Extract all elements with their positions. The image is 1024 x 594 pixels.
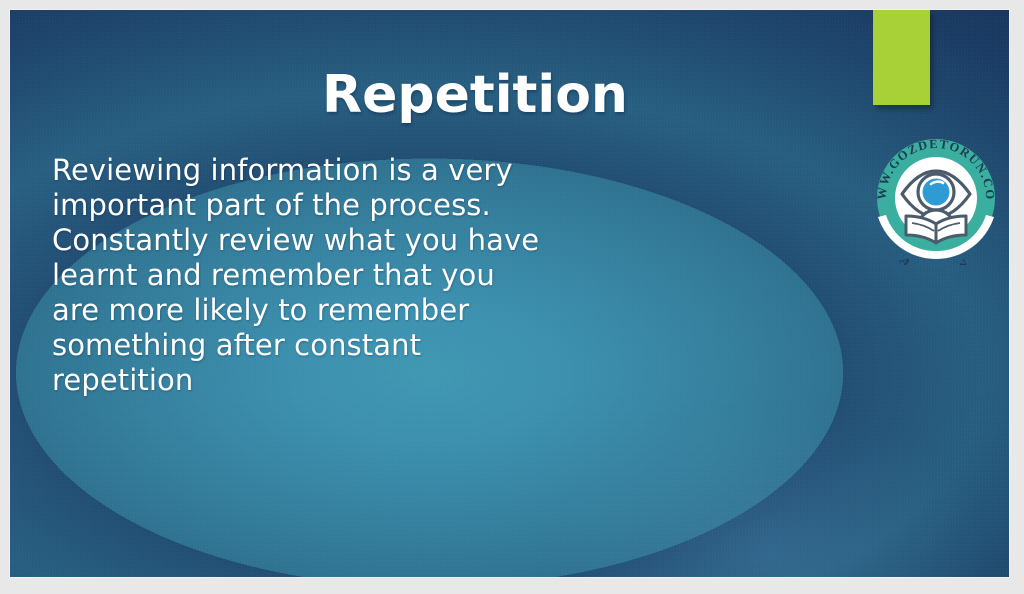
body-line: are more likely to remember — [52, 293, 612, 328]
slide-title: Repetition — [10, 67, 940, 124]
academy-logo: WWW.GOZDETORUN.COM ACADEMY — [874, 131, 998, 265]
body-line: something after constant — [52, 328, 612, 363]
page-canvas: Repetition Reviewing information is a ve… — [0, 0, 1024, 594]
body-line: learnt and remember that you — [52, 258, 612, 293]
slide-body-text: Reviewing information is a very importan… — [52, 153, 612, 398]
body-line: repetition — [52, 363, 612, 398]
body-line: Constantly review what you have — [52, 223, 612, 258]
body-line: important part of the process. — [52, 188, 612, 223]
presentation-slide: Repetition Reviewing information is a ve… — [10, 10, 1009, 577]
body-line: Reviewing information is a very — [52, 153, 612, 188]
